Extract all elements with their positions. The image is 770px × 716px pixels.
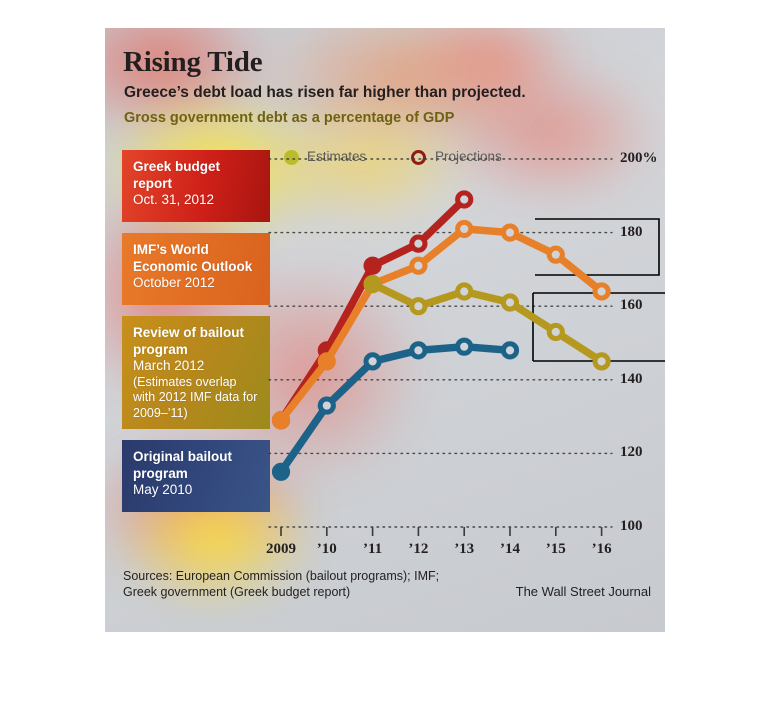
y-axis-tick-label: 140	[620, 371, 643, 388]
data-point	[274, 465, 287, 478]
data-point	[320, 399, 333, 412]
data-point	[503, 344, 516, 357]
chart-screenshot: Rising Tide Greece’s debt load has risen…	[0, 0, 770, 716]
sources-text: Sources: European Commission (bailout pr…	[123, 568, 439, 600]
y-axis-tick-label: 160	[620, 297, 643, 314]
y-axis-tick-label: 100	[620, 518, 643, 535]
x-axis-tick-label: ’15	[532, 541, 580, 558]
x-axis-tick-label: ’16	[578, 541, 626, 558]
chart-panel: Rising Tide Greece’s debt load has risen…	[105, 28, 665, 632]
data-point	[458, 340, 471, 353]
publication-credit: The Wall Street Journal	[516, 584, 651, 599]
y-axis-tick-label: 200%	[620, 150, 658, 167]
sources-line-1: Sources: European Commission (bailout pr…	[123, 568, 439, 584]
data-point	[412, 259, 425, 272]
x-axis-tick-label: 2009	[257, 541, 305, 558]
x-axis-tick-label: ’11	[349, 541, 397, 558]
data-point	[366, 355, 379, 368]
data-point	[595, 285, 608, 298]
data-point	[458, 222, 471, 235]
x-axis-tick-label: ’13	[440, 541, 488, 558]
data-point	[503, 226, 516, 239]
x-axis-tick-label: ’14	[486, 541, 534, 558]
data-point	[412, 237, 425, 250]
x-axis-tick-label: ’12	[394, 541, 442, 558]
data-point	[320, 355, 333, 368]
data-point	[366, 278, 379, 291]
y-axis-tick-label: 120	[620, 444, 643, 461]
y-axis-tick-label: 180	[620, 224, 643, 241]
data-point	[595, 355, 608, 368]
data-point	[412, 300, 425, 313]
data-point	[458, 285, 471, 298]
data-point	[458, 193, 471, 206]
data-point	[274, 414, 287, 427]
data-point	[549, 248, 562, 261]
data-point	[366, 259, 379, 272]
x-axis-tick-label: ’10	[303, 541, 351, 558]
data-point	[503, 296, 516, 309]
data-point	[412, 344, 425, 357]
sources-line-2: Greek government (Greek budget report)	[123, 584, 439, 600]
data-point	[549, 325, 562, 338]
